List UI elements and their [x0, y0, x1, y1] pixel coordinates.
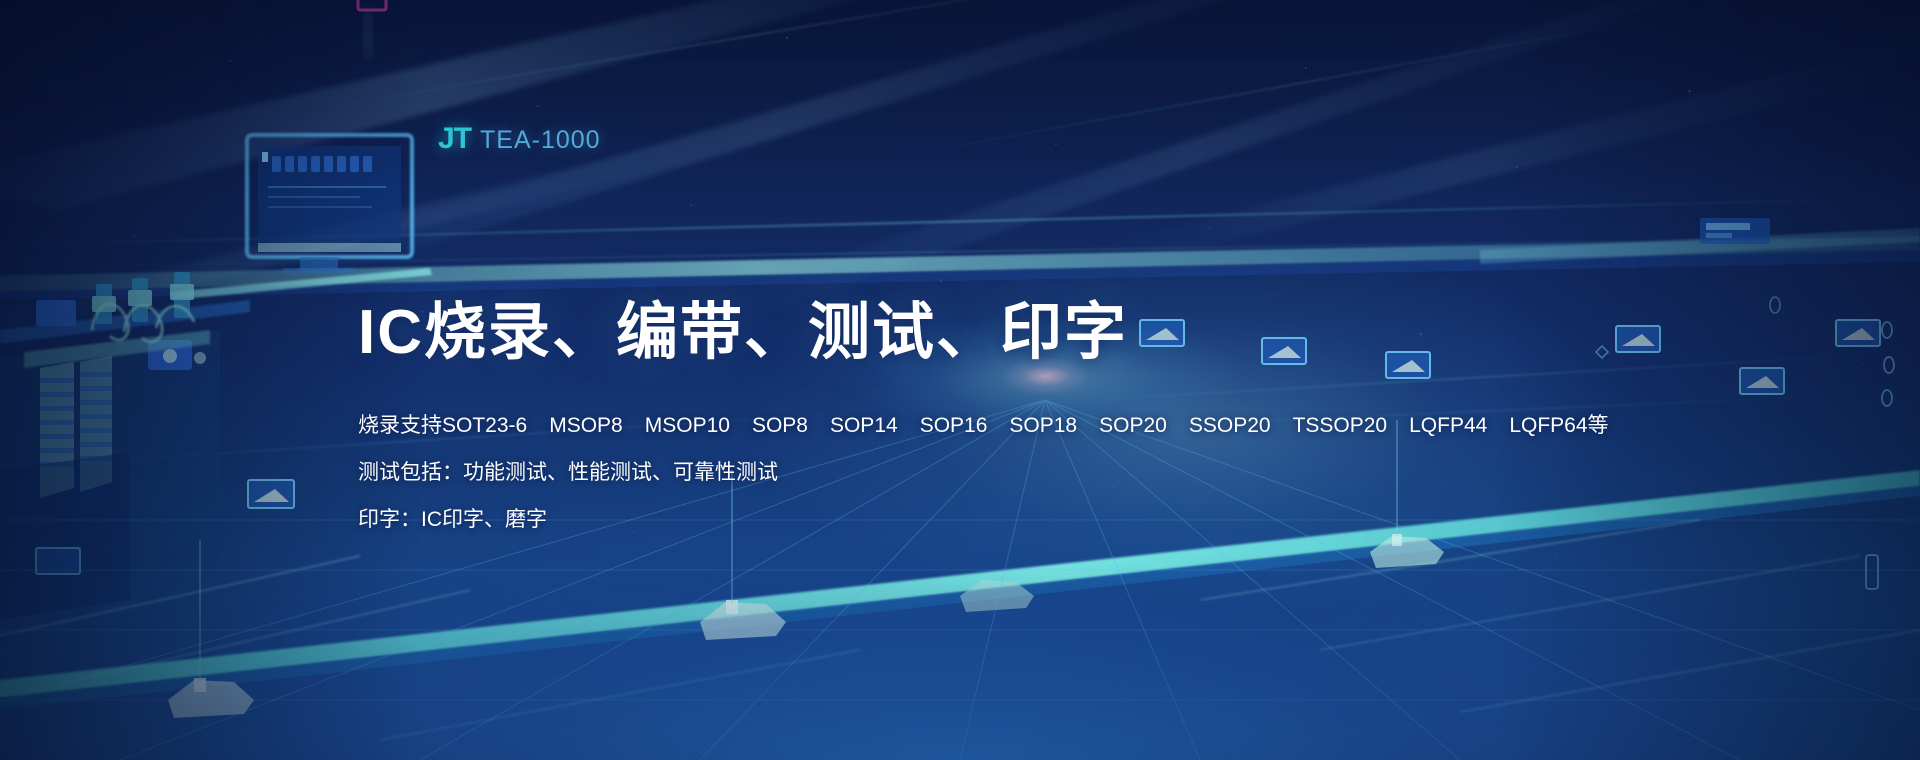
floor-horizontals-art	[0, 520, 1920, 700]
hero-banner: JT TEA-1000 IC烧录、编带、测试、印字 烧录支持SOT23-6MSO…	[0, 0, 1920, 760]
package-sop20: SOP20	[1099, 414, 1167, 437]
package-lqfp44: LQFP44	[1409, 414, 1487, 437]
subline-testing-scope: 测试包括：功能测试、性能测试、可靠性测试	[358, 462, 1598, 483]
package-msop10: MSOP10	[645, 414, 730, 437]
burning-prefix: 烧录支持SOT23-6	[358, 414, 527, 437]
machine-logo-model: TEA-1000	[480, 126, 601, 155]
package-sop16: SOP16	[920, 414, 988, 437]
package-sop14: SOP14	[830, 414, 898, 437]
subline-marking-scope: 印字：IC印字、磨字	[358, 509, 1598, 530]
top-marker-art	[358, 0, 386, 56]
banner-headline: IC烧录、编带、测试、印字	[358, 300, 1598, 365]
banner-content: IC烧录、编带、测试、印字 烧录支持SOT23-6MSOP8MSOP10SOP8…	[358, 300, 1598, 530]
package-ssop20: SSOP20	[1189, 414, 1271, 437]
machine-logo: JT TEA-1000	[438, 122, 601, 156]
banner-subtitle-list: 烧录支持SOT23-6MSOP8MSOP10SOP8SOP14SOP16SOP1…	[358, 415, 1598, 530]
machine-logo-mark: JT	[438, 122, 471, 156]
monitor-art	[247, 135, 412, 274]
package-lqfp64: LQFP64等	[1509, 414, 1608, 437]
package-msop8: MSOP8	[549, 414, 623, 437]
package-sop8: SOP8	[752, 414, 808, 437]
package-sop18: SOP18	[1009, 414, 1077, 437]
subline-burning-support: 烧录支持SOT23-6MSOP8MSOP10SOP8SOP14SOP16SOP1…	[358, 415, 1598, 436]
machine-art	[0, 272, 250, 620]
package-tssop20: TSSOP20	[1293, 414, 1388, 437]
